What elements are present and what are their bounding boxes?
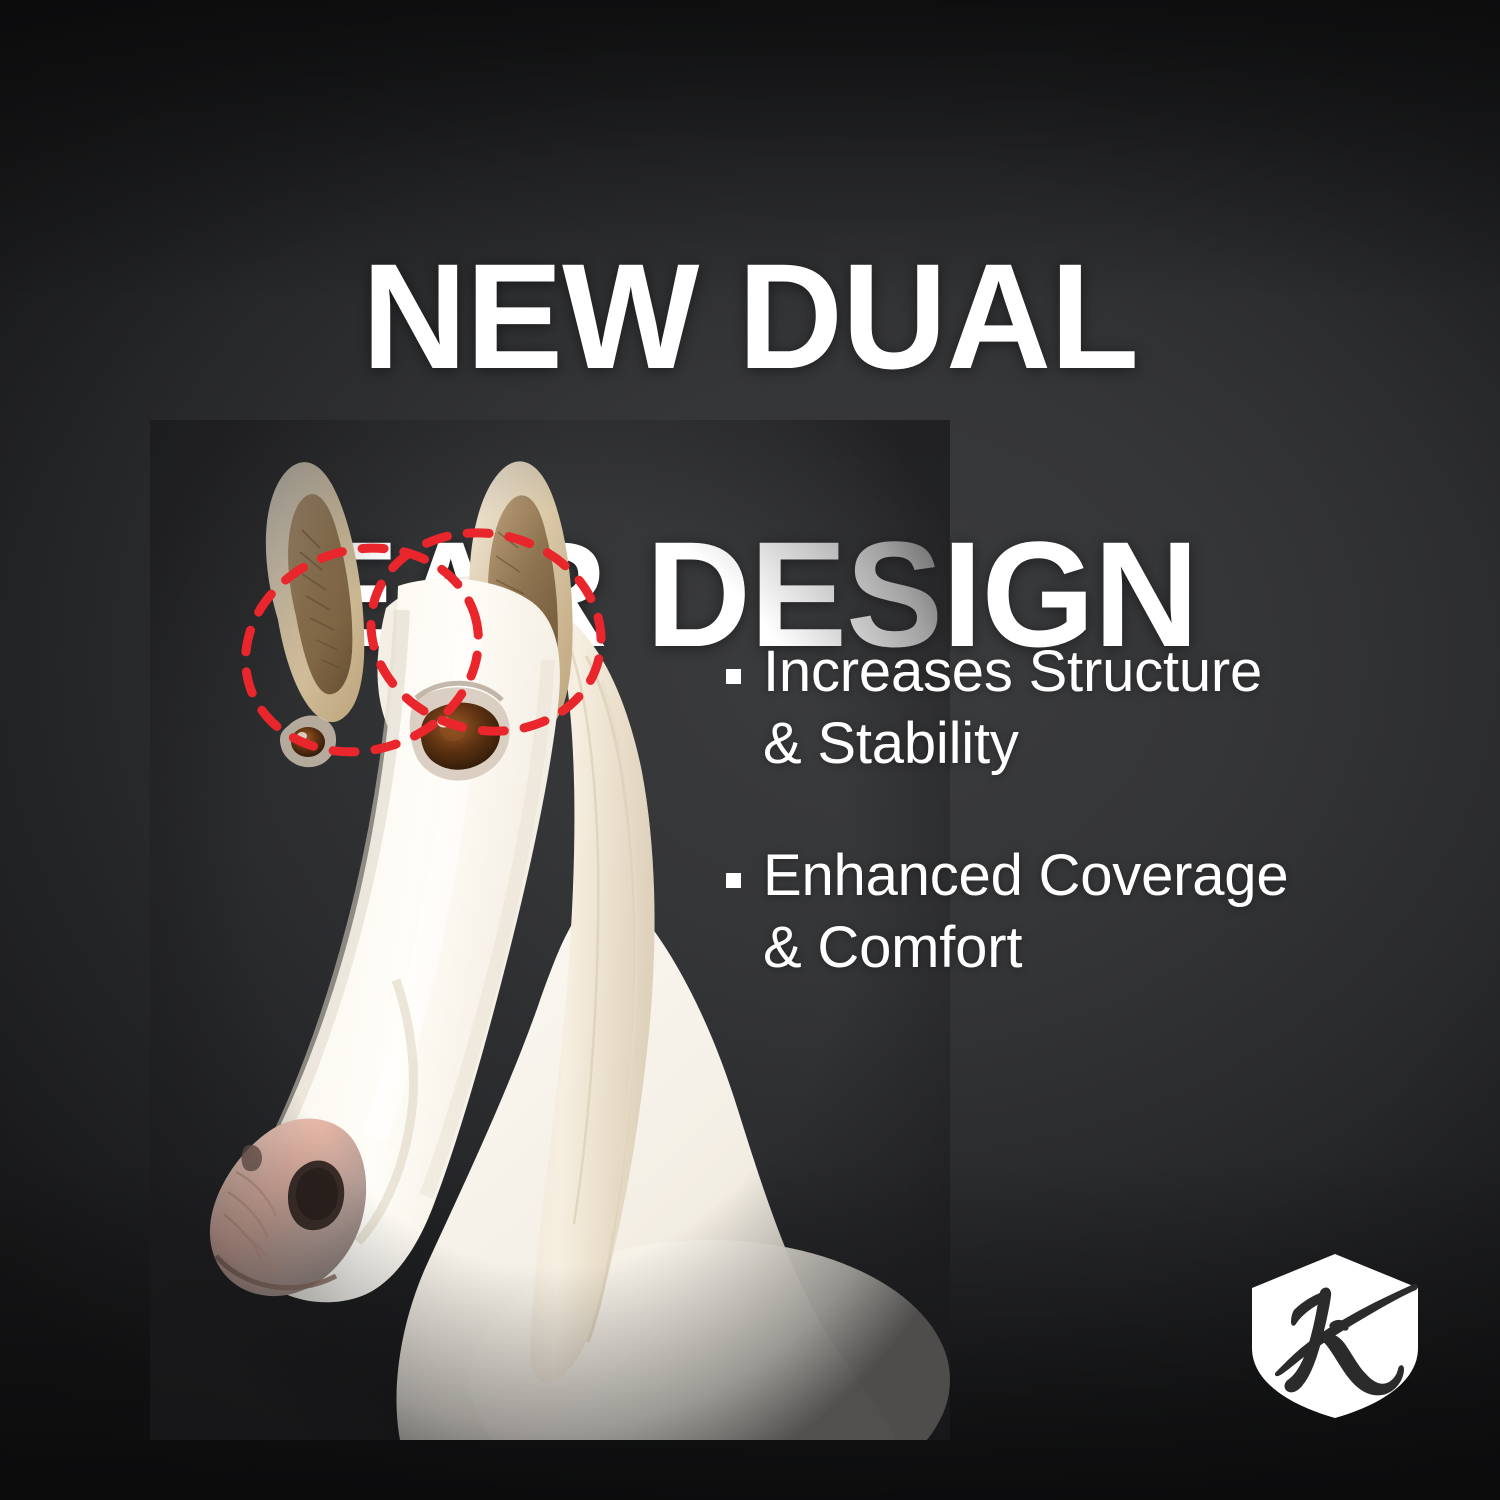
- feature-text-2: Enhanced Coverage & Comfort: [763, 840, 1288, 984]
- square-bullet-icon: [726, 873, 741, 888]
- feature-2-line-1: Enhanced Coverage: [763, 843, 1288, 908]
- list-item: Increases Structure & Stability: [726, 636, 1416, 780]
- promo-image: NEW DUAL EAR DESIGN: [0, 0, 1500, 1500]
- feature-1-line-1: Increases Structure: [763, 639, 1262, 704]
- feature-list: Increases Structure & Stability Enhanced…: [726, 636, 1416, 984]
- feature-1-line-2: & Stability: [763, 711, 1019, 776]
- headline-line-1: NEW DUAL: [23, 247, 1478, 386]
- list-item: Enhanced Coverage & Comfort: [726, 840, 1416, 984]
- feature-2-line-2: & Comfort: [763, 915, 1022, 980]
- feature-text-1: Increases Structure & Stability: [763, 636, 1262, 780]
- square-bullet-icon: [726, 669, 741, 684]
- brand-logo: [1246, 1252, 1424, 1420]
